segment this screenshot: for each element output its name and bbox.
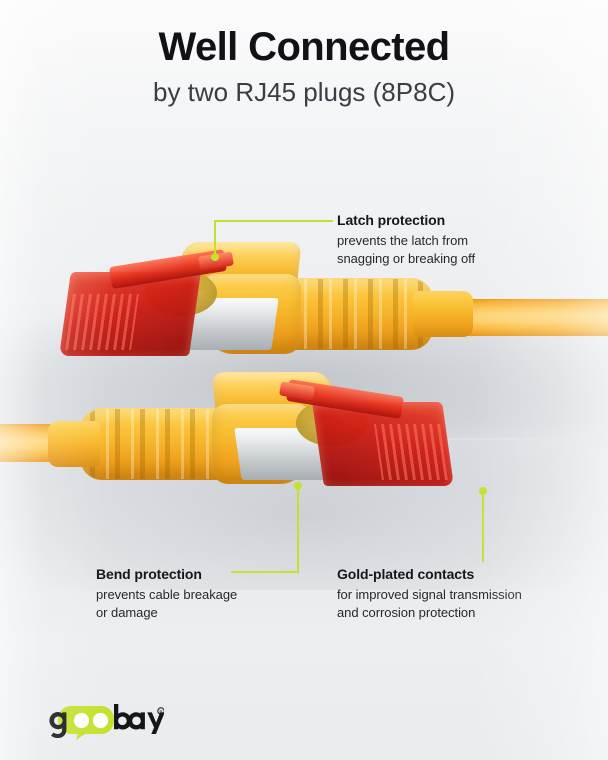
- leader-line-bend-horizontal: [231, 571, 299, 573]
- contact-slots-bottom: [374, 424, 448, 480]
- callout-bend-heading: Bend protection: [96, 565, 237, 584]
- svg-text:R: R: [159, 709, 162, 714]
- leader-line-latch-vertical: [214, 220, 216, 258]
- boot-ridges-top: [279, 279, 431, 349]
- callout-latch-heading: Latch protection: [337, 211, 475, 230]
- leader-line-bend-vertical: [297, 486, 299, 572]
- callout-latch-protection: Latch protection prevents the latch from…: [337, 211, 475, 267]
- callout-latch-line-1: prevents the latch from: [337, 232, 475, 250]
- infographic-canvas: Well Connected by two RJ45 plugs (8P8C): [0, 0, 608, 760]
- callout-gold-line-2: and corrosion protection: [337, 604, 522, 622]
- callout-gold-plated-contacts: Gold-plated contacts for improved signal…: [337, 565, 522, 621]
- rj45-connector-bottom: [60, 366, 540, 496]
- callout-gold-heading: Gold-plated contacts: [337, 565, 522, 584]
- boot-neck-bottom: [48, 421, 100, 467]
- callout-bend-line-1: prevents cable breakage: [96, 586, 237, 604]
- logo-letter-g: [49, 712, 66, 738]
- callout-bend-protection: Bend protection prevents cable breakage …: [96, 565, 237, 621]
- page-title: Well Connected: [0, 24, 608, 70]
- contact-slots-top: [65, 294, 139, 350]
- boot-neck-top: [413, 291, 473, 337]
- goobay-logo: R: [44, 702, 164, 740]
- logo-letters-bay: [114, 704, 164, 734]
- callout-gold-line-1: for improved signal transmission: [337, 586, 522, 604]
- callout-latch-line-2: snagging or breaking off: [337, 250, 475, 268]
- header: Well Connected by two RJ45 plugs (8P8C): [0, 24, 608, 108]
- registered-trademark-icon: R: [158, 708, 164, 714]
- goobay-logo-mark: R: [44, 702, 164, 740]
- leader-line-latch-horizontal: [214, 220, 333, 222]
- page-subtitle: by two RJ45 plugs (8P8C): [0, 76, 608, 108]
- callout-bend-line-2: or damage: [96, 604, 237, 622]
- leader-line-gold-vertical: [482, 491, 484, 562]
